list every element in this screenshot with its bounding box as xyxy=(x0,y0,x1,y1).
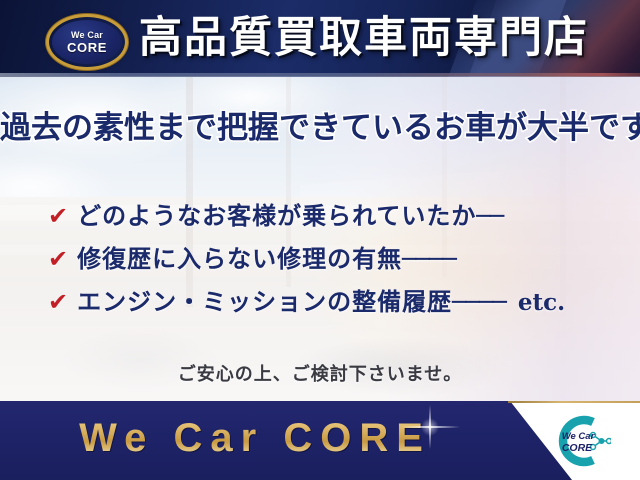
badge-line1: We Car xyxy=(71,31,103,40)
bullet-text: 修復歴に入らない修理の有無 xyxy=(77,239,402,274)
bullet-item: ✔ 修復歴に入らない修理の有無 ──── xyxy=(48,239,608,282)
bullet-rule: ──── xyxy=(402,244,456,273)
promo-banner: We Car CORE 高品質買取車両専門店 過去の素性まで把握できているお車が… xyxy=(0,0,640,480)
bullet-item: ✔ エンジン・ミッションの整備履歴 ──── etc. xyxy=(48,282,608,325)
bullet-etc: etc. xyxy=(518,289,565,316)
badge-line2: CORE xyxy=(67,41,107,54)
check-icon: ✔ xyxy=(48,204,68,228)
bullet-rule: ──── xyxy=(452,287,506,316)
bullet-text: どのようなお客様が乗られていたか xyxy=(77,196,476,231)
logo-line2: CORE xyxy=(562,442,593,454)
bullet-rule: ── xyxy=(476,201,503,230)
we-car-core-logo-icon: We Car CORE xyxy=(551,413,611,469)
sparkle-icon xyxy=(398,405,462,449)
bullet-list: ✔ どのようなお客様が乗られていたか ── ✔ 修復歴に入らない修理の有無 ──… xyxy=(48,196,608,325)
header-title: 高品質買取車両専門店 xyxy=(139,11,589,66)
logo-line1: We Car xyxy=(562,431,596,442)
check-icon: ✔ xyxy=(48,247,68,271)
headline: 過去の素性まで把握できているお車が大半です。 xyxy=(0,108,640,148)
bullet-item: ✔ どのようなお客様が乗られていたか ── xyxy=(48,196,608,239)
we-car-core-badge: We Car CORE xyxy=(49,17,125,67)
footer-gold-rule xyxy=(508,401,640,403)
footer-bar: We Car CORE xyxy=(0,401,640,480)
check-icon: ✔ xyxy=(48,290,68,314)
sub-note: ご安心の上、ご検討下さいませ。 xyxy=(0,360,640,386)
header-bar: We Car CORE 高品質買取車両専門店 xyxy=(0,0,640,77)
bullet-text: エンジン・ミッションの整備履歴 xyxy=(77,282,452,317)
header-divider-highlight xyxy=(0,76,640,77)
